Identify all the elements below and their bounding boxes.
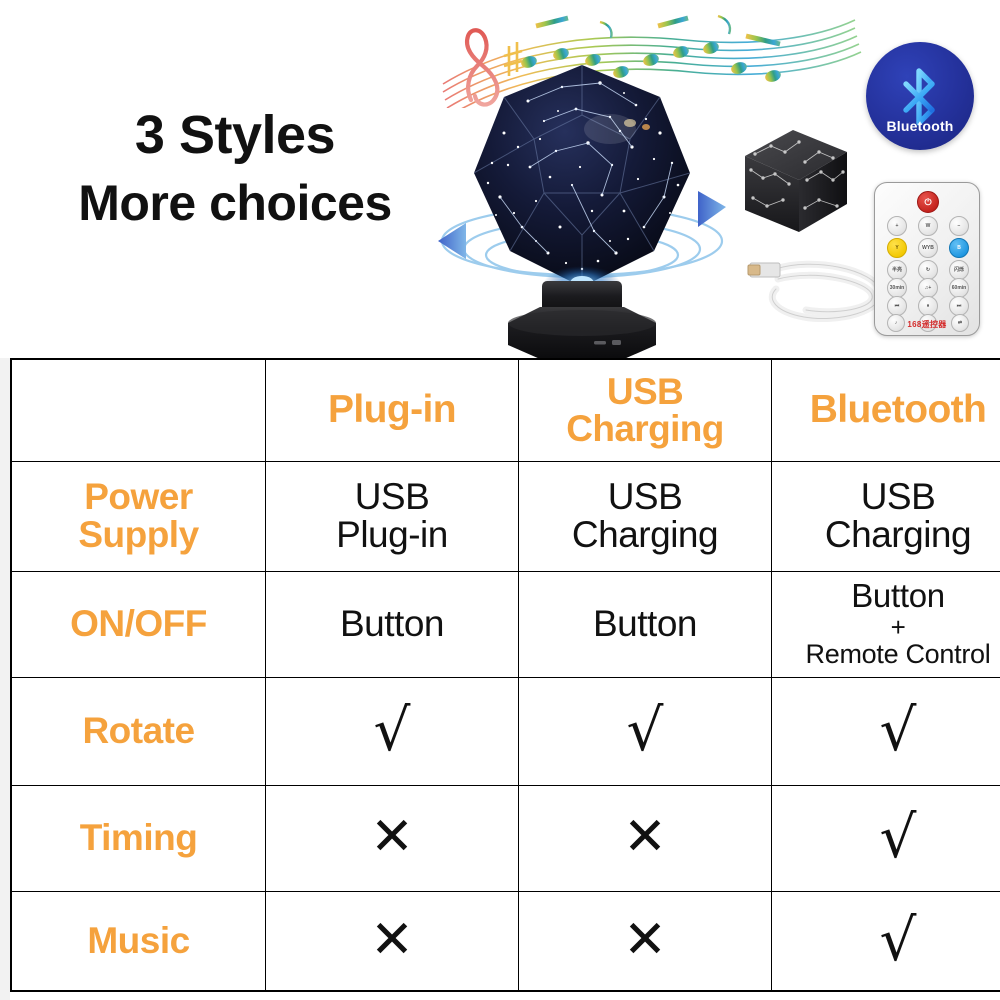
- header-usb-charging: USB Charging: [519, 359, 772, 461]
- headline-line-2: More choices: [40, 174, 430, 233]
- feature-power-supply-line-1: Power: [16, 478, 261, 516]
- cell-power-plugin: USB Plug-in: [266, 461, 519, 571]
- cell-power-plugin-line-1: USB: [270, 478, 514, 516]
- cell-power-bluetooth: USB Charging: [772, 461, 1000, 571]
- cell-power-usb-line-1: USB: [523, 478, 767, 516]
- cell-music-usb: ✕: [519, 891, 772, 991]
- remote-button-y: Y: [887, 238, 907, 258]
- header-usb-charging-line-2: Charging: [523, 410, 767, 448]
- cell-onoff-bluetooth: Button + Remote Control: [772, 571, 1000, 677]
- remote-button-rotate: ↻: [918, 260, 938, 280]
- cell-music-plugin: ✕: [266, 891, 519, 991]
- hero-product-area: 3 Styles More choices: [0, 0, 1000, 358]
- cell-onoff-usb: Button: [519, 571, 772, 677]
- header-bluetooth: Bluetooth: [772, 359, 1000, 461]
- remote-button-next: ⏭: [949, 296, 969, 316]
- cell-power-usb: USB Charging: [519, 461, 772, 571]
- feature-timing: Timing: [11, 785, 266, 891]
- remote-button-volume-up: ♫+: [918, 278, 938, 298]
- cell-power-bluetooth-line-2: Charging: [776, 516, 1000, 554]
- feature-music: Music: [11, 891, 266, 991]
- header-blank-cell: [11, 359, 266, 461]
- cell-timing-usb: ✕: [519, 785, 772, 891]
- remote-button-timer-60: 60min: [949, 278, 969, 298]
- remote-button-b: B: [949, 238, 969, 258]
- table-header-row: Plug-in USB Charging Bluetooth: [11, 359, 1000, 461]
- remote-button-previous: ⏮: [887, 296, 907, 316]
- bluetooth-badge: Bluetooth: [866, 42, 974, 150]
- cell-rotate-usb: √: [519, 677, 772, 785]
- cell-onoff-bluetooth-line-2: Remote Control: [776, 641, 1000, 669]
- constellation-gift-box-image: [733, 122, 855, 240]
- page-title: 3 Styles More choices: [40, 104, 430, 233]
- remote-button-timer-30: 30min: [887, 278, 907, 298]
- table-row: ON/OFF Button Button Button + Remote Con…: [11, 571, 1000, 677]
- cell-onoff-bluetooth-plus: +: [776, 613, 1000, 642]
- cell-rotate-bluetooth: √: [772, 677, 1000, 785]
- cell-onoff-plugin: Button: [266, 571, 519, 677]
- cell-music-bluetooth: √: [772, 891, 1000, 991]
- header-plug-in: Plug-in: [266, 359, 519, 461]
- remote-button-dim: 半亮: [887, 260, 907, 280]
- remote-model-label: 168遥控器: [875, 319, 979, 330]
- table-row: Power Supply USB Plug-in USB Charging US…: [11, 461, 1000, 571]
- cell-power-plugin-line-2: Plug-in: [270, 516, 514, 554]
- feature-rotate: Rotate: [11, 677, 266, 785]
- remote-control-image: ⏻ + W − Y WYB B 半亮 ↻ 闪烁 30min ♫+ 60min ⏮…: [874, 182, 980, 336]
- feature-on-off: ON/OFF: [11, 571, 266, 677]
- star-projector-lamp-image: [432, 55, 732, 360]
- remote-button-w: W: [918, 216, 938, 236]
- header-usb-charging-line-1: USB: [523, 373, 767, 411]
- cell-power-usb-line-2: Charging: [523, 516, 767, 554]
- usb-cable-image: [742, 243, 892, 333]
- feature-power-supply-line-2: Supply: [16, 516, 261, 554]
- cell-timing-bluetooth: √: [772, 785, 1000, 891]
- cell-timing-plugin: ✕: [266, 785, 519, 891]
- table-row: Timing ✕ ✕ √: [11, 785, 1000, 891]
- remote-button-wyb: WYB: [918, 238, 938, 258]
- remote-button-plus: +: [887, 216, 907, 236]
- cell-rotate-plugin: √: [266, 677, 519, 785]
- feature-power-supply: Power Supply: [11, 461, 266, 571]
- bluetooth-badge-label: Bluetooth: [866, 118, 974, 134]
- headline-line-1: 3 Styles: [40, 104, 430, 168]
- cell-onoff-bluetooth-line-1: Button: [776, 579, 1000, 613]
- remote-button-minus: −: [949, 216, 969, 236]
- remote-power-button: ⏻: [917, 191, 939, 213]
- table-row: Rotate √ √ √: [11, 677, 1000, 785]
- remote-button-flash: 闪烁: [949, 260, 969, 280]
- table-row: Music ✕ ✕ √: [11, 891, 1000, 991]
- remote-button-play-pause: ⏸: [918, 296, 938, 316]
- cell-power-bluetooth-line-1: USB: [776, 478, 1000, 516]
- feature-comparison-table: Plug-in USB Charging Bluetooth Power Sup…: [10, 358, 1000, 992]
